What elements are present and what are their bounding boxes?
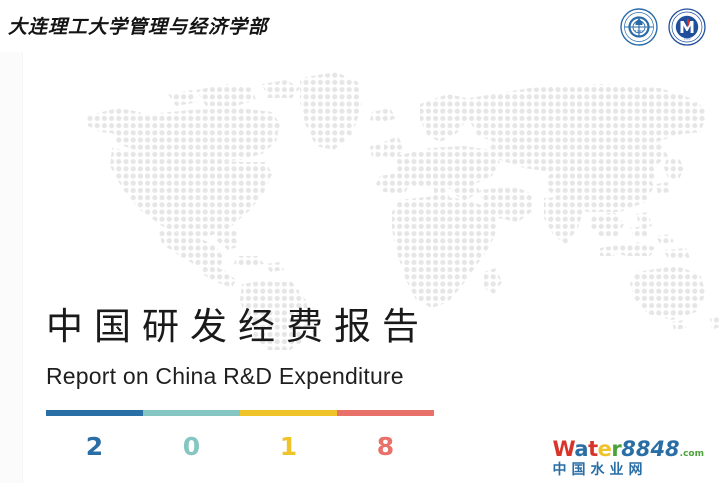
- color-segment-2: [143, 410, 240, 416]
- title-block: 中国研发经费报告 Report on China R&D Expenditure: [46, 306, 430, 390]
- color-segment-4: [337, 410, 434, 416]
- watermark-letter-e: e: [598, 437, 612, 461]
- watermark-water8848: Water8848.com 中国水业网: [552, 439, 704, 477]
- watermark-number: 8848: [621, 437, 679, 461]
- page-title-english: Report on China R&D Expenditure: [46, 363, 430, 390]
- watermark-brand: Water8848.com: [552, 439, 704, 460]
- watermark-tld: .com: [680, 449, 704, 459]
- svg-text:1949: 1949: [634, 30, 644, 34]
- year-digit-1: 2: [46, 432, 143, 461]
- watermark-letter-a: a: [574, 437, 588, 461]
- svg-text:1980: 1980: [684, 37, 691, 41]
- color-segment-3: [240, 410, 337, 416]
- institution-name: 大连理工大学管理与经济学部: [8, 12, 268, 39]
- watermark-letter-w: W: [552, 437, 574, 461]
- year-digit-4: 8: [337, 432, 434, 461]
- watermark-letter-t: t: [588, 437, 598, 461]
- watermark-letter-r: r: [611, 437, 621, 461]
- color-bar: [46, 410, 434, 416]
- page-title-chinese: 中国研发经费报告: [46, 306, 430, 349]
- faculty-management-economics-seal-icon: 1980: [668, 8, 706, 46]
- year-digits: 2 0 1 8: [46, 432, 434, 461]
- presentation-title-slide: 大连理工大学管理与经济学部 1949: [0, 0, 720, 483]
- slide-header: 大连理工大学管理与经济学部 1949: [0, 0, 720, 52]
- dut-university-seal-icon: 1949: [620, 8, 658, 46]
- year-digit-2: 0: [143, 432, 240, 461]
- year-digit-3: 1: [240, 432, 337, 461]
- watermark-chinese: 中国水业网: [552, 463, 704, 477]
- logo-group: 1949 1980: [620, 8, 706, 46]
- color-segment-1: [46, 410, 143, 416]
- year-block: 2 0 1 8: [46, 410, 434, 461]
- dotted-world-map: [0, 50, 720, 350]
